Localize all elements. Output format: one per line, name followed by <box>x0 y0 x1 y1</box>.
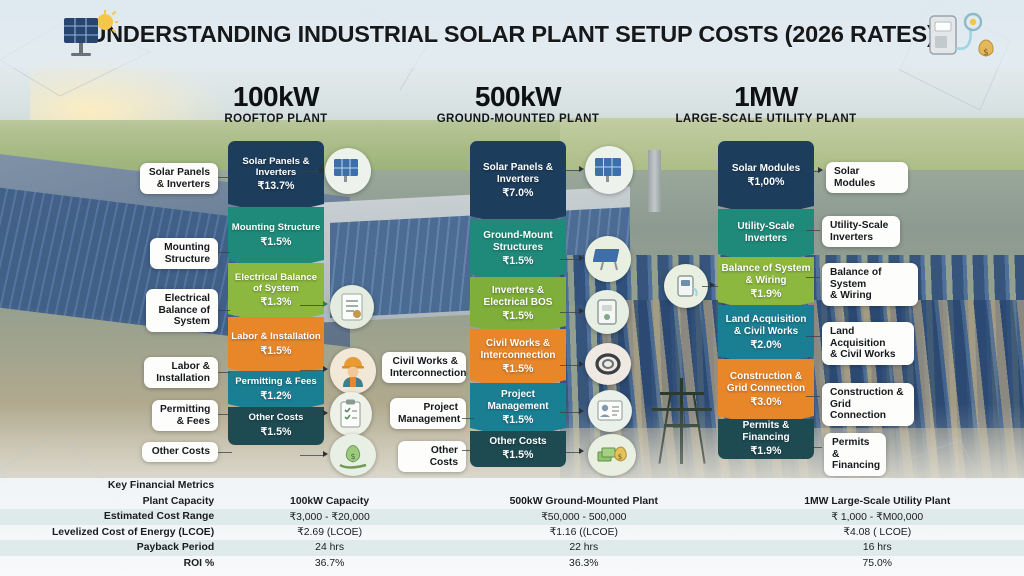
leader-line <box>560 452 580 453</box>
leader-line <box>560 365 580 366</box>
row-label: Estimated Cost Range <box>0 509 222 525</box>
cost-segment[interactable]: Permits & Financing ₹1.9% <box>718 419 814 459</box>
leader-line <box>218 372 230 373</box>
table-row: Levelized Cost of Energy (LCOE) ₹2.69 (L… <box>0 525 1024 541</box>
row-value-100kw: ₹2.69 (LCOE) <box>222 525 437 541</box>
row-label: Levelized Cost of Energy (LCOE) <box>0 525 222 541</box>
cost-segment[interactable]: Solar Modules ₹1,00% <box>718 141 814 217</box>
leader-line <box>300 455 324 456</box>
callout-electrical-balance[interactable]: Electrical Balance of System <box>146 289 218 332</box>
row-value-100kw: 36.7% <box>222 556 437 572</box>
row-value-1mw: ₹4.08 ( LCOE) <box>731 525 1024 541</box>
arrow-icon <box>579 166 584 172</box>
table-row: Plant Capacity 100kW Capacity 500kW Grou… <box>0 494 1024 510</box>
row-value-500kw: 500kW Ground-Mounted Plant <box>437 494 730 510</box>
metrics-title: Key Financial Metrics <box>0 478 222 494</box>
segment-name: Permits & Financing <box>721 420 811 442</box>
capacity-label: 100kW <box>146 82 406 112</box>
callout-mounting-structure[interactable]: Mounting Structure <box>150 238 218 269</box>
leader-line <box>806 447 822 448</box>
inverter-money-bag-icon: $ <box>926 8 996 62</box>
cost-segment[interactable]: Ground-Mount Structures ₹1.5% <box>470 219 566 285</box>
segment-value: ₹1,00% <box>748 176 785 188</box>
callout-solar-panels-inverters[interactable]: Solar Panels & Inverters <box>140 163 218 194</box>
segment-name: Permitting & Fees <box>235 377 317 388</box>
segment-name: Utility-Scale Inverters <box>721 221 811 243</box>
capacity-label: 500kW <box>388 82 648 112</box>
inverter-box-icon <box>585 290 629 334</box>
row-label: Plant Capacity <box>0 494 222 510</box>
segment-value: ₹13.7% <box>258 180 295 192</box>
column-heading-500kw: 500kW GROUND-MOUNTED PLANT <box>388 82 648 125</box>
cash-stack-icon: $ <box>588 434 636 476</box>
arrow-icon <box>579 408 584 414</box>
row-value-1mw: ₹ 1,000 - ₹M00,000 <box>731 509 1024 525</box>
arrow-icon <box>323 410 328 416</box>
row-label: ROI % <box>0 556 222 572</box>
arrow-icon <box>818 167 823 173</box>
leader-line <box>218 414 230 415</box>
arrow-icon <box>323 366 328 372</box>
arrow-icon <box>323 451 328 457</box>
row-value-1mw: 16 hrs <box>731 540 1024 556</box>
segment-name: Electrical Balance of System <box>231 273 321 294</box>
row-value-1mw: 75.0% <box>731 556 1024 572</box>
ground-mount-panel-icon <box>585 236 631 282</box>
segment-name: Other Costs <box>249 413 304 424</box>
leader-line <box>218 310 230 311</box>
cost-funnel-500kw: Solar Panels & Inverters ₹7.0% Ground-Mo… <box>470 141 566 467</box>
table-row: ROI % 36.7% 36.3% 75.0% <box>0 556 1024 572</box>
segment-value: ₹1.9% <box>751 445 782 457</box>
leader-line <box>806 396 820 397</box>
table-row: Estimated Cost Range ₹3,000 - ₹20,000 ₹5… <box>0 509 1024 525</box>
leader-line <box>300 305 324 306</box>
worker-icon <box>330 348 376 394</box>
callout-project-management[interactable]: Project Management <box>390 398 466 429</box>
column-heading-100kw: 100kW ROOFTOP PLANT <box>146 82 406 125</box>
leader-line <box>218 177 230 178</box>
cost-segment[interactable]: Other Costs ₹1.5% <box>228 407 324 445</box>
segment-name: Other Costs <box>489 436 546 447</box>
capacity-subtitle: ROOFTOP PLANT <box>146 113 406 125</box>
document-icon <box>330 285 374 329</box>
table-row-title: Key Financial Metrics <box>0 478 1024 494</box>
row-value-100kw: 24 hrs <box>222 540 437 556</box>
cost-segment[interactable]: Electrical Balance of System ₹1.3% <box>228 263 324 325</box>
callout-permits-financing[interactable]: Permits & Financing <box>824 433 886 476</box>
cost-segment[interactable]: Balance of System & Wiring ₹1.9% <box>718 257 814 313</box>
leader-line <box>218 452 232 453</box>
segment-name: Inverters & Electrical BOS <box>473 285 563 307</box>
segment-name: Solar Modules <box>732 163 800 174</box>
cost-segment[interactable]: Solar Panels & Inverters ₹13.7% <box>228 141 324 215</box>
row-value-100kw: 100kW Capacity <box>222 494 437 510</box>
leader-line <box>218 252 230 253</box>
leader-line <box>806 230 820 231</box>
leader-line <box>560 259 580 260</box>
cost-funnel-1mw: Solar Modules ₹1,00% Utility-Scale Inver… <box>718 141 814 459</box>
column-heading-1mw: 1MW LARGE-SCALE UTILITY PLANT <box>636 82 896 125</box>
segment-value: ₹3.0% <box>751 396 782 408</box>
segment-name: Balance of System & Wiring <box>721 263 811 285</box>
callout-land-acquisition[interactable]: Land Acquisition & Civil Works <box>822 322 914 365</box>
money-bag-hand-icon: $ <box>330 434 376 476</box>
arrow-icon <box>323 301 328 307</box>
segment-value: ₹1.9% <box>751 288 782 300</box>
cost-segment[interactable]: Solar Panels & Inverters ₹7.0% <box>470 141 566 227</box>
segment-name: Construction & Grid Connection <box>721 371 811 393</box>
clipboard-icon <box>330 392 372 436</box>
id-card-icon <box>588 390 632 432</box>
arrow-icon <box>579 448 584 454</box>
cost-segment[interactable]: Other Costs ₹1.5% <box>470 431 566 467</box>
cost-segment[interactable]: Utility-Scale Inverters <box>718 209 814 265</box>
segment-name: Civil Works & Interconnection <box>473 338 563 360</box>
leader-line <box>462 418 474 419</box>
callout-labor-installation[interactable]: Labor & Installation <box>144 357 218 388</box>
row-value-1mw: 1MW Large-Scale Utility Plant <box>731 494 1024 510</box>
cost-segment[interactable]: Civil Works & Interconnection ₹1.5% <box>470 329 566 391</box>
callout-balance-of-system[interactable]: Balance of System & Wiring <box>822 263 918 306</box>
callout-other-costs[interactable]: Other Costs <box>398 441 466 472</box>
solar-panel-sun-icon <box>62 10 118 58</box>
segment-value: ₹1.5% <box>261 345 292 357</box>
segment-name: Solar Panels & Inverters <box>473 162 563 184</box>
leader-line <box>806 336 820 337</box>
segment-name: Land Acquisition & Civil Works <box>721 314 811 336</box>
callout-permitting-fees[interactable]: Permitting & Fees <box>152 400 218 431</box>
segment-name: Labor & Installation <box>231 332 321 343</box>
leader-line <box>560 412 580 413</box>
segment-value: ₹1.5% <box>503 363 534 375</box>
segment-value: ₹1.5% <box>503 449 534 461</box>
leader-line <box>300 171 320 172</box>
callout-construction-grid[interactable]: Construction & Grid Connection <box>822 383 914 426</box>
leader-line <box>560 170 580 171</box>
segment-value: ₹1.3% <box>261 296 292 308</box>
segment-name: Solar Panels & Inverters <box>231 157 321 178</box>
svg-text:$: $ <box>983 48 989 58</box>
segment-value: ₹1.5% <box>261 426 292 438</box>
arrow-icon <box>579 361 584 367</box>
cost-funnel-100kw: Solar Panels & Inverters ₹13.7% Mounting… <box>228 141 324 445</box>
page-title: UNDERSTANDING INDUSTRIAL SOLAR PLANT SET… <box>89 21 934 48</box>
arrow-icon <box>710 282 715 288</box>
callout-utility-scale-inverters[interactable]: Utility-Scale Inverters <box>822 216 900 247</box>
segment-value: ₹1.2% <box>261 390 292 402</box>
segment-name: Project Management <box>473 389 563 411</box>
cost-segment[interactable]: Construction & Grid Connection ₹3.0% <box>718 359 814 427</box>
row-value-500kw: 22 hrs <box>437 540 730 556</box>
row-value-500kw: 36.3% <box>437 556 730 572</box>
solar-panel-icon <box>585 146 633 194</box>
segment-value: ₹7.0% <box>503 187 534 199</box>
segment-value: ₹1.5% <box>503 255 534 267</box>
segment-value: ₹2.0% <box>751 339 782 351</box>
capacity-subtitle: GROUND-MOUNTED PLANT <box>388 113 648 125</box>
cost-segment[interactable]: Mounting Structure ₹1.5% <box>228 207 324 271</box>
key-financial-metrics-panel: Key Financial Metrics Plant Capacity 100… <box>0 478 1024 576</box>
row-label: Payback Period <box>0 540 222 556</box>
capacity-label: 1MW <box>636 82 896 112</box>
capacity-subtitle: LARGE-SCALE UTILITY PLANT <box>636 113 896 125</box>
row-value-500kw: ₹50,000 - 500,000 <box>437 509 730 525</box>
cost-segment[interactable]: Land Acquisition & Civil Works ₹2.0% <box>718 305 814 367</box>
cost-segment[interactable]: Inverters & Electrical BOS ₹1.5% <box>470 277 566 337</box>
callout-solar-modules[interactable]: Solar Modules <box>826 162 908 193</box>
arrow-icon <box>319 167 324 173</box>
solar-panel-icon <box>325 148 371 194</box>
leader-line <box>806 277 820 278</box>
segment-value: ₹1.5% <box>261 236 292 248</box>
svg-text:$: $ <box>618 453 622 461</box>
arrow-icon <box>579 255 584 261</box>
row-value-100kw: ₹3,000 - ₹20,000 <box>222 509 437 525</box>
segment-name: Ground-Mount Structures <box>473 230 563 252</box>
metrics-table: Key Financial Metrics Plant Capacity 100… <box>0 478 1024 571</box>
segment-value: ₹1.5% <box>503 414 534 426</box>
leader-line <box>462 450 474 451</box>
cable-coil-icon <box>585 343 631 385</box>
svg-text:$: $ <box>350 452 355 461</box>
segment-value: ₹1.5% <box>503 310 534 322</box>
callout-other-costs[interactable]: Other Costs <box>142 442 218 462</box>
callout-civil-works[interactable]: Civil Works & Interconnection <box>382 352 466 383</box>
segment-name: Mounting Structure <box>232 223 320 234</box>
row-value-500kw: ₹1.16 ((LCOE) <box>437 525 730 541</box>
table-row: Payback Period 24 hrs 22 hrs 16 hrs <box>0 540 1024 556</box>
header-banner: UNDERSTANDING INDUSTRIAL SOLAR PLANT SET… <box>0 0 1024 68</box>
leader-line <box>300 370 324 371</box>
leader-line <box>300 414 324 415</box>
arrow-icon <box>579 308 584 314</box>
leader-line <box>560 312 580 313</box>
